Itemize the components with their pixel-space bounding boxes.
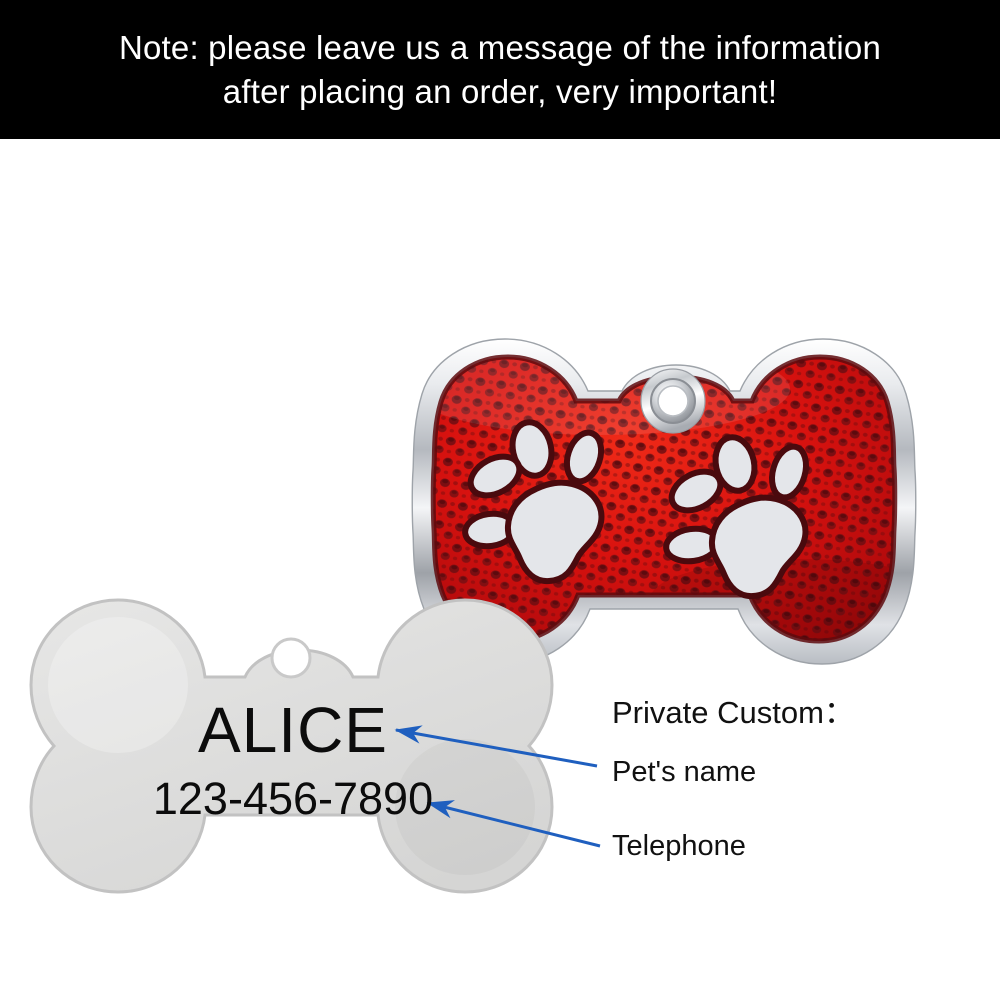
note-banner: Note: please leave us a message of the i…	[0, 0, 1000, 139]
annotation-telephone: Telephone	[612, 828, 992, 864]
annotation-pet-name: Pet's name	[612, 754, 992, 790]
engraved-telephone: 123-456-7890	[0, 776, 586, 821]
product-image-stage: ALICE 123-456-7890 Private Custom： Pet's…	[0, 139, 1000, 1000]
note-line-1: Note: please leave us a message of the i…	[119, 26, 881, 70]
note-line-2: after placing an order, very important!	[223, 70, 777, 114]
annotation-title: Private Custom：	[612, 694, 992, 732]
annotation-group: Private Custom： Pet's name Telephone	[612, 694, 992, 864]
engraved-pet-name: ALICE	[0, 698, 586, 762]
callout-arrows	[0, 139, 1000, 1000]
